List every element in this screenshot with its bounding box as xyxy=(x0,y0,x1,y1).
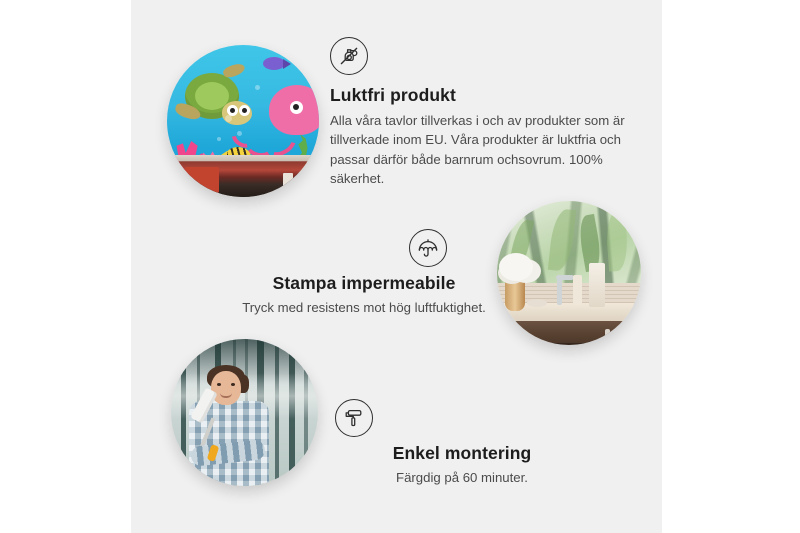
feature-title: Enkel montering xyxy=(329,443,595,464)
purple-fish xyxy=(263,57,285,70)
umbrella-icon xyxy=(409,229,447,267)
leaf xyxy=(605,210,629,271)
eye xyxy=(217,383,221,386)
feature-luktfri-produkt: Luktfri produkt Alla våra tavlor tillver… xyxy=(330,37,630,189)
turtle-eye-right xyxy=(239,105,250,116)
forest-wallpaper-scene xyxy=(171,339,318,486)
turtle-flipper-back xyxy=(222,61,247,79)
bubble xyxy=(217,137,221,141)
woman-face xyxy=(211,371,241,405)
underwater-cartoon-scene-circle xyxy=(167,45,319,197)
feature-title: Stampa impermeabile xyxy=(213,273,515,294)
faucet xyxy=(557,279,562,305)
toiletry-bottle xyxy=(573,275,582,305)
soap-dish xyxy=(527,299,547,307)
eye xyxy=(231,383,235,386)
bubble xyxy=(237,131,242,136)
bubble xyxy=(225,115,232,122)
feature-body: Färgdig på 60 minuter. xyxy=(329,468,595,487)
content-panel: Luktfri produkt Alla våra tavlor tillver… xyxy=(131,0,662,533)
octopus-eye xyxy=(290,101,303,114)
no-fragrance-spray-bottle-icon xyxy=(330,37,368,75)
paint-roller-icon xyxy=(335,399,373,437)
feature-stampa-impermeabile: Stampa impermeabile Tryck med resistens … xyxy=(213,229,515,317)
vanity-cabinet xyxy=(497,321,641,345)
sea-background xyxy=(167,45,319,197)
feature-body: Alla våra tavlor tillverkas i och av pro… xyxy=(330,111,630,189)
bathroom-scene xyxy=(497,201,641,345)
woman-with-paint-roller-forest-circle xyxy=(171,339,318,486)
feature-body: Tryck med resistens mot hög luftfuktighe… xyxy=(213,298,515,317)
toiletry-bottle xyxy=(589,263,605,307)
cabinet-handle xyxy=(605,329,610,345)
drawer-divider xyxy=(497,343,641,345)
product-benefits-infographic: Luktfri produkt Alla våra tavlor tillver… xyxy=(0,0,800,533)
leaf xyxy=(548,208,576,272)
feature-enkel-montering: Enkel montering Färgdig på 60 minuter. xyxy=(329,399,595,487)
bubble xyxy=(255,85,260,90)
room-photo-strip xyxy=(167,155,319,197)
icon-wrapper xyxy=(329,399,595,437)
icon-wrapper xyxy=(213,229,515,267)
feature-title: Luktfri produkt xyxy=(330,85,630,106)
bathroom-botanical-wallpaper-circle xyxy=(497,201,641,345)
